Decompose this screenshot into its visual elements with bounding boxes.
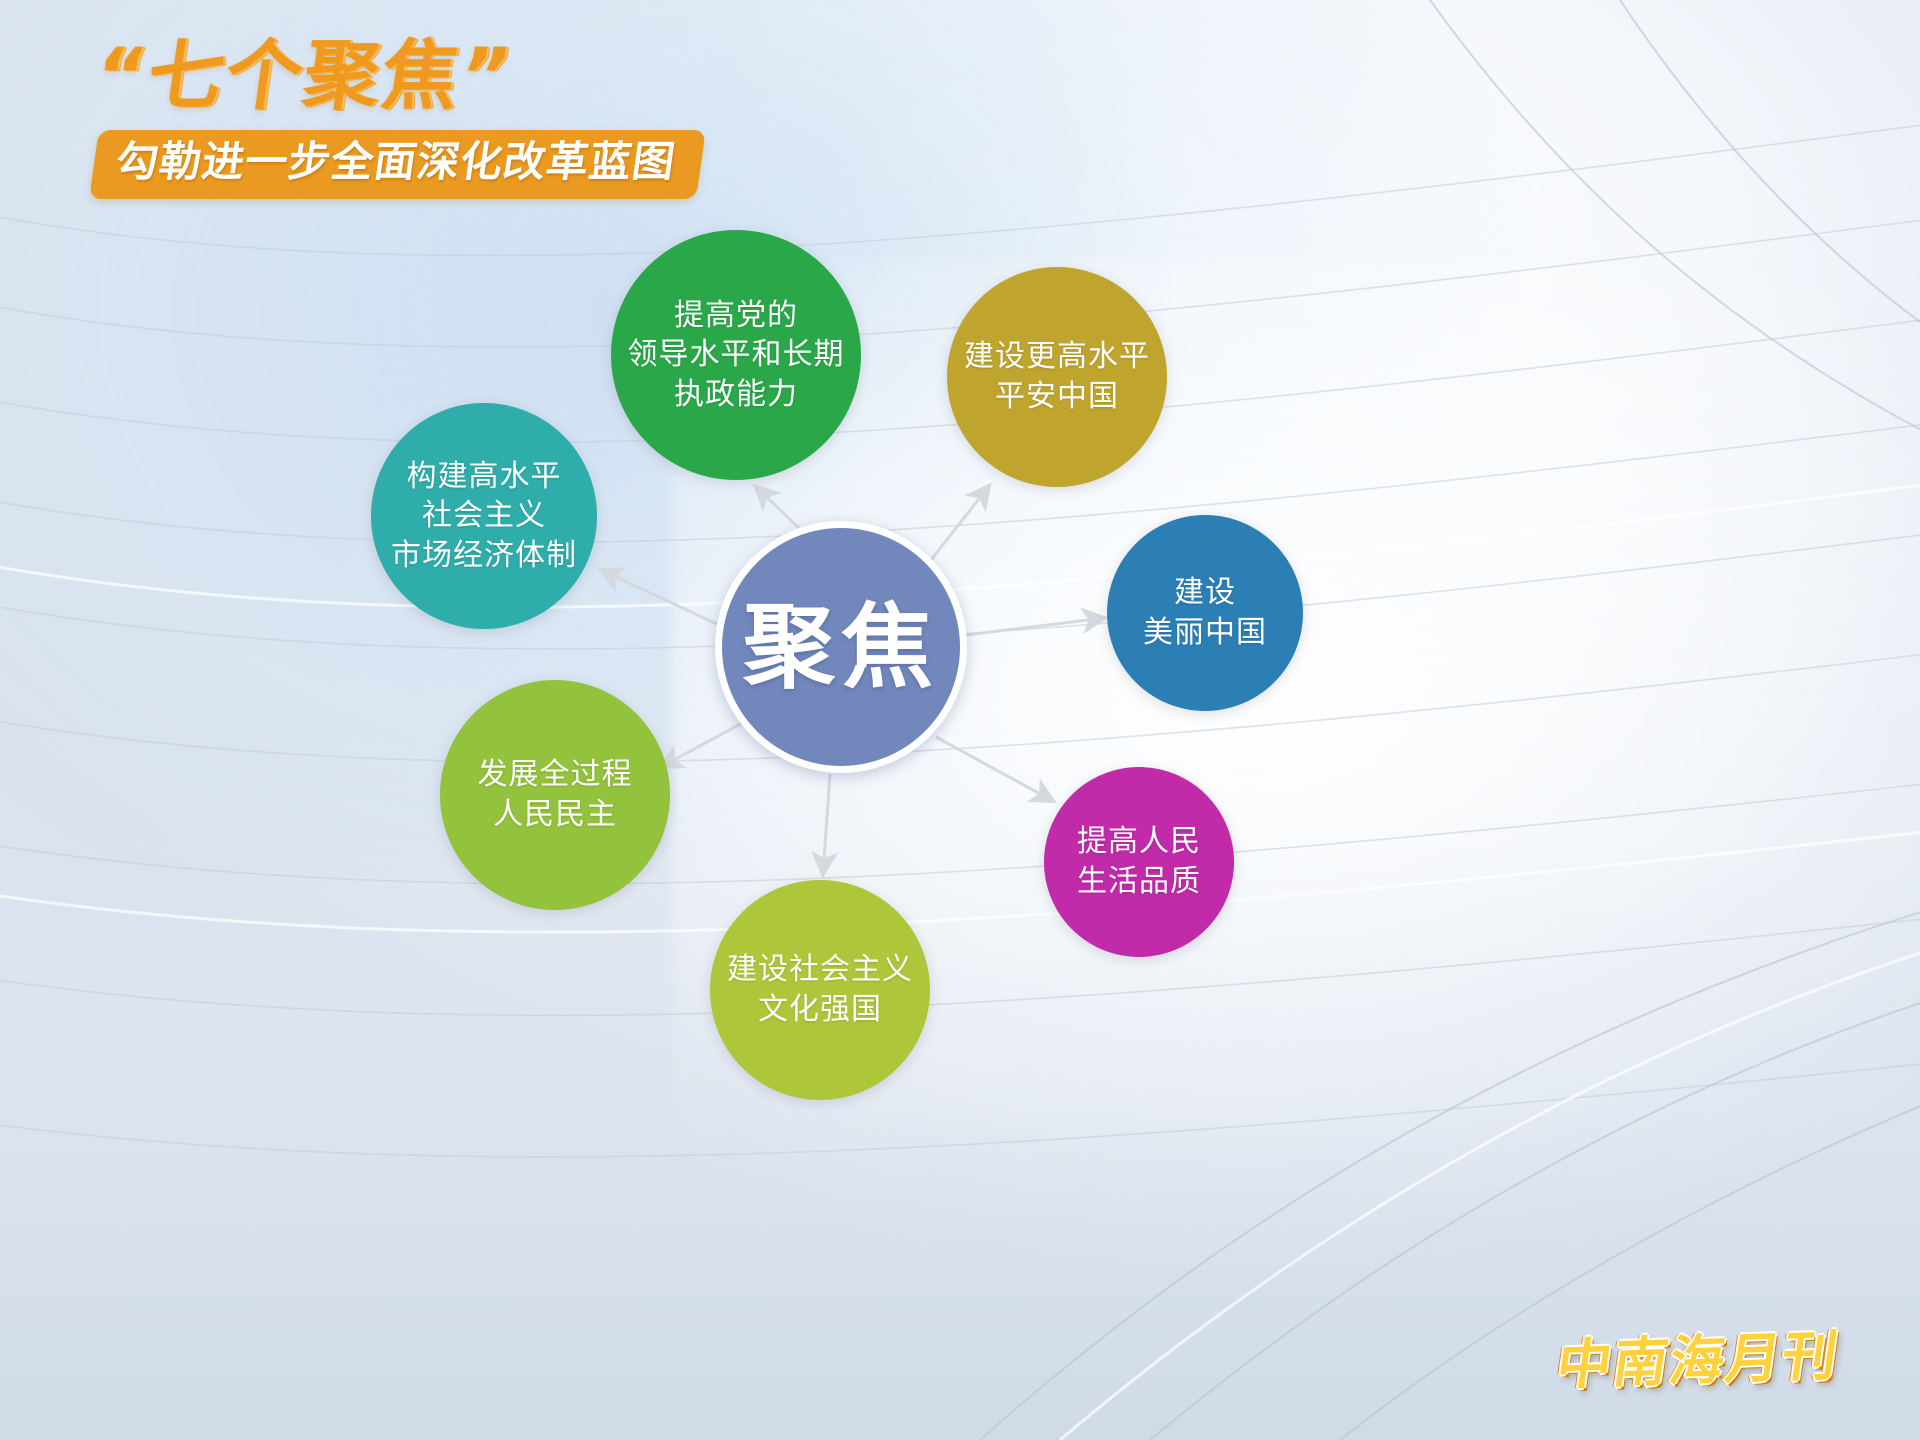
- node-whole-process-democracy[interactable]: 发展全过程 人民民主: [440, 680, 670, 910]
- center-node-focus[interactable]: 聚焦: [715, 521, 967, 773]
- publication-logo: 中南海月刊: [1553, 1329, 1842, 1393]
- connector-arrows: [0, 0, 1920, 1440]
- node-label-party-leadership: 提高党的 领导水平和长期 执政能力: [628, 296, 845, 415]
- node-quality-of-life[interactable]: 提高人民 生活品质: [1044, 767, 1234, 957]
- infographic-canvas: “七个聚焦” 勾勒进一步全面深化改革蓝图: [0, 0, 1920, 1440]
- node-label-cultural-power: 建设社会主义 文化强国: [727, 950, 913, 1029]
- node-label-market-economy: 构建高水平 社会主义 市场经济体制: [391, 457, 577, 576]
- node-label-safe-china: 建设更高水平 平安中国: [964, 337, 1150, 416]
- node-cultural-power[interactable]: 建设社会主义 文化强国: [710, 880, 930, 1100]
- center-node-label: 聚焦: [743, 601, 939, 693]
- node-market-economy[interactable]: 构建高水平 社会主义 市场经济体制: [371, 403, 597, 629]
- node-safe-china[interactable]: 建设更高水平 平安中国: [947, 267, 1167, 487]
- node-label-whole-process-democracy: 发展全过程 人民民主: [478, 755, 633, 834]
- node-label-quality-of-life: 提高人民 生活品质: [1077, 822, 1201, 901]
- node-party-leadership[interactable]: 提高党的 领导水平和长期 执政能力: [611, 230, 861, 480]
- node-label-beautiful-china: 建设 美丽中国: [1143, 573, 1267, 652]
- node-beautiful-china[interactable]: 建设 美丽中国: [1107, 515, 1303, 711]
